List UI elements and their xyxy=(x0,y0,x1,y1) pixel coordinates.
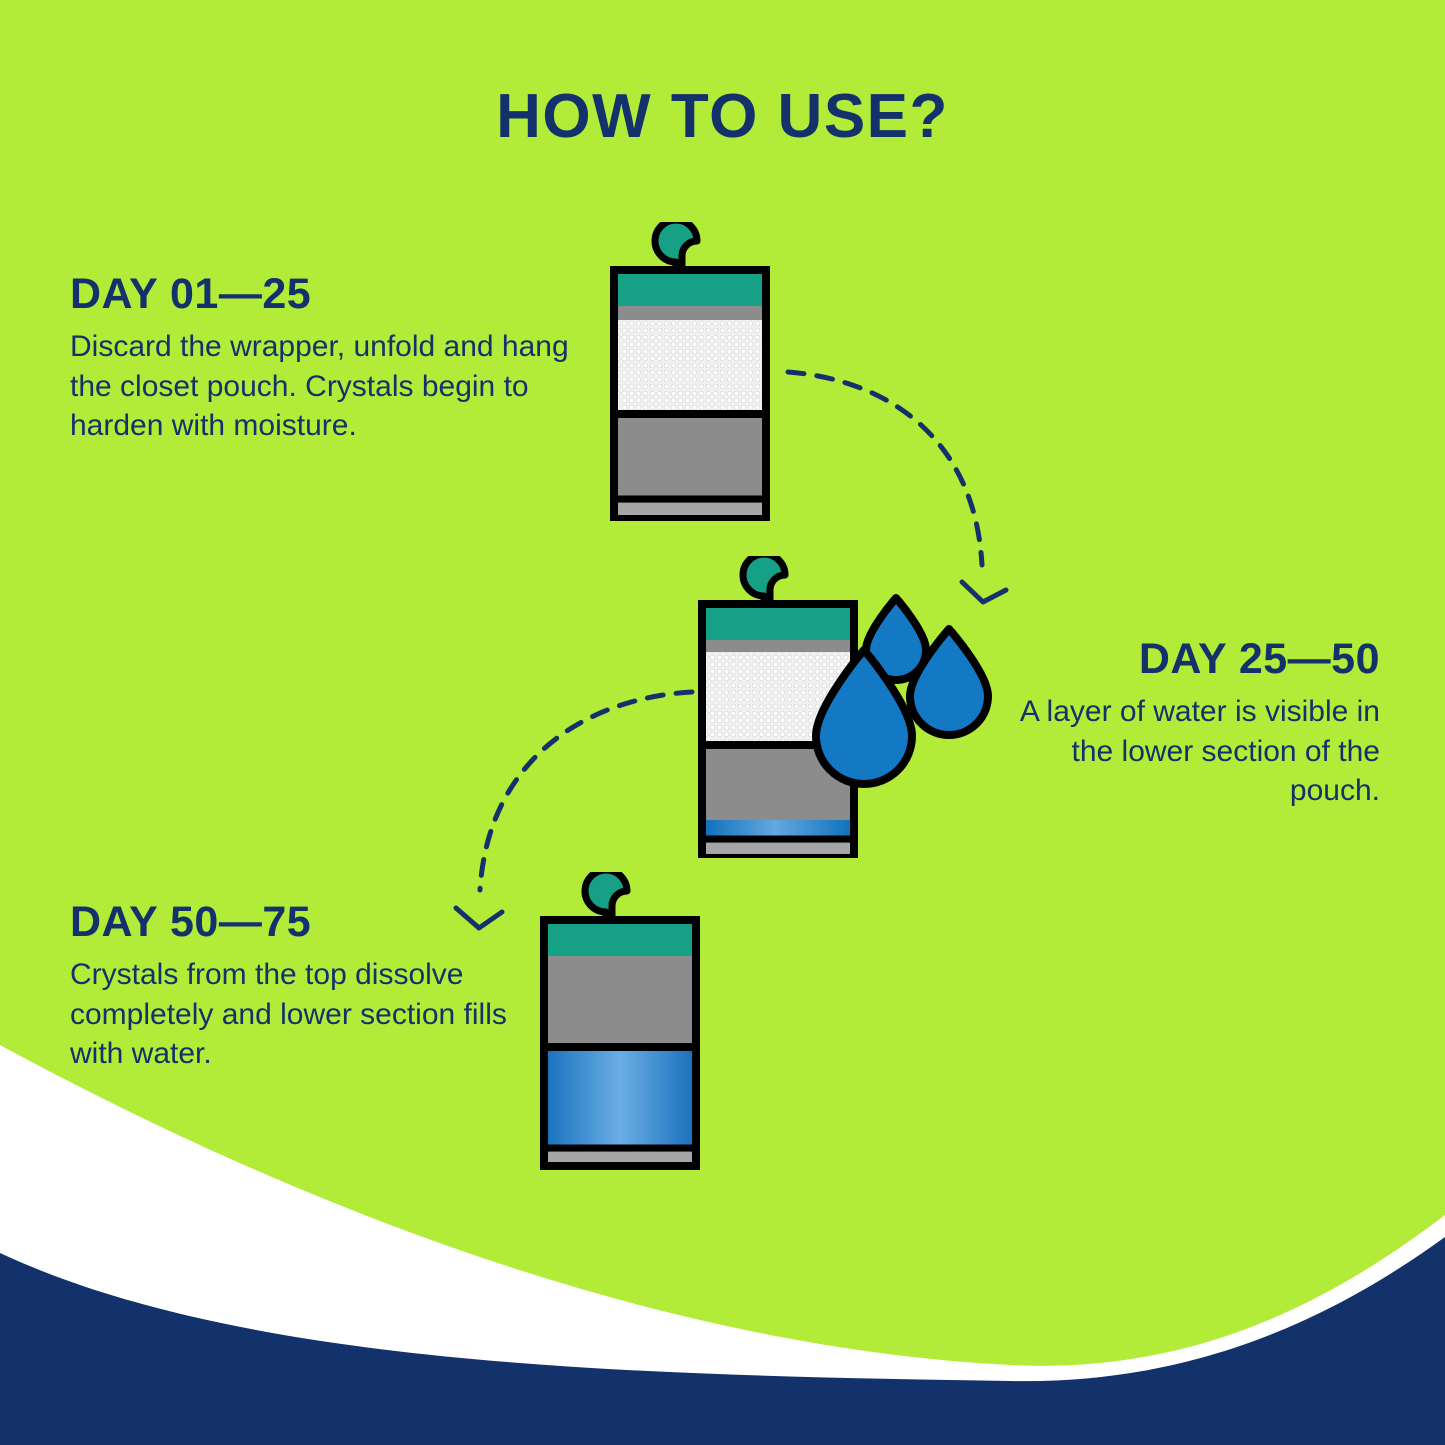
bottom-strip xyxy=(618,503,762,515)
pouch-body xyxy=(544,920,696,1166)
bottom-wave-decoration xyxy=(0,1045,1445,1445)
step-heading-day-01-25: DAY 01—25 xyxy=(70,272,570,317)
wave-white-stripe xyxy=(0,1045,1445,1445)
lower-gray-section xyxy=(618,418,762,497)
bottom-strip xyxy=(548,1152,692,1162)
bottom-strip xyxy=(706,843,850,854)
infographic-canvas: HOW TO USE? DAY 01—25 Discard the wrappe… xyxy=(0,0,1445,1445)
page-title: HOW TO USE? xyxy=(0,86,1445,148)
step-body-day-25-50: A layer of water is visible in the lower… xyxy=(980,692,1380,811)
crystal-texture xyxy=(618,320,762,412)
step-body-day-01-25: Discard the wrapper, unfold and hang the… xyxy=(70,327,570,446)
step-block-day-01-25: DAY 01—25 Discard the wrapper, unfold an… xyxy=(70,272,570,446)
upper-gray-section xyxy=(548,956,692,1044)
wave-navy xyxy=(0,1237,1445,1445)
top-band-teal xyxy=(618,274,762,306)
step-heading-day-25-50: DAY 25—50 xyxy=(980,637,1380,682)
step-body-day-50-75: Crystals from the top dissolve completel… xyxy=(70,955,540,1074)
water-section xyxy=(548,1051,692,1146)
top-band-teal xyxy=(548,924,692,956)
water-layer xyxy=(706,820,850,837)
closet-pouch-day-50-75 xyxy=(530,872,710,1177)
water-droplets-group xyxy=(808,588,998,803)
upper-gray-strip xyxy=(618,306,762,320)
pouch-body xyxy=(614,270,766,517)
step-block-day-25-50: DAY 25—50 A layer of water is visible in… xyxy=(980,637,1380,811)
closet-pouch-day-01-25 xyxy=(600,222,780,527)
